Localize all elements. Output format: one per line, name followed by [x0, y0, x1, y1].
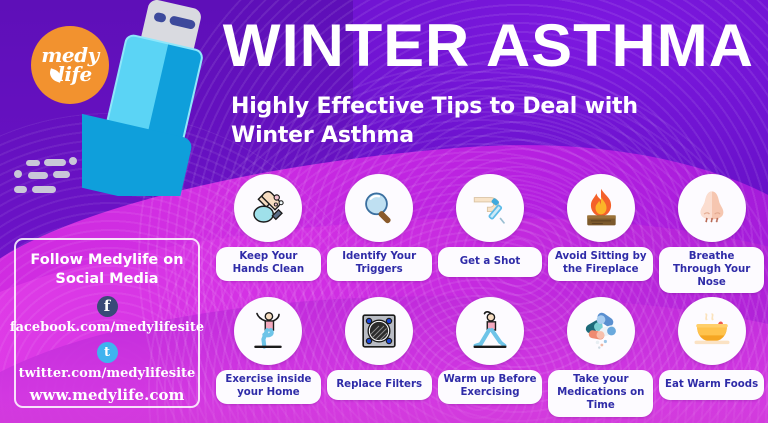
dashes-decoration — [12, 156, 84, 204]
tip-label: Exercise inside your Home — [216, 370, 321, 404]
twitter-glyph: t — [104, 345, 110, 360]
air-filter-icon — [345, 297, 413, 365]
tip-card[interactable]: Keep Your Hands Clean — [216, 174, 321, 293]
tip-card[interactable]: Avoid Sitting by the Fireplace — [548, 174, 653, 293]
fireplace-flame-icon — [567, 174, 635, 242]
yoga-warrior-pose-icon — [456, 297, 524, 365]
asthma-inhaler-illustration — [82, 0, 212, 196]
facebook-glyph: f — [104, 297, 110, 315]
tip-label: Take your Medications on Time — [548, 370, 653, 416]
tip-label: Get a Shot — [438, 247, 543, 277]
page-title: WINTER ASTHMA — [223, 16, 754, 76]
magnifying-glass-icon — [345, 174, 413, 242]
warm-soup-bowl-icon — [678, 297, 746, 365]
winter-asthma-infographic: medy life WINTER ASTHMA Highly Effective… — [0, 0, 768, 423]
facebook-handle[interactable]: facebook.com/medylifesite — [10, 320, 204, 335]
tip-label: Eat Warm Foods — [659, 370, 764, 400]
tip-card[interactable]: Breathe Through Your Nose — [659, 174, 764, 293]
medylife-logo[interactable]: medy life — [31, 26, 109, 104]
facebook-icon[interactable]: f — [97, 296, 118, 317]
tip-card[interactable]: Get a Shot — [438, 174, 543, 293]
tip-label: Breathe Through Your Nose — [659, 247, 764, 293]
yoga-dancer-pose-icon — [234, 297, 302, 365]
twitter-icon[interactable]: t — [97, 342, 118, 363]
washing-hands-icon — [234, 174, 302, 242]
tip-card[interactable]: Eat Warm Foods — [659, 297, 764, 416]
tip-label: Avoid Sitting by the Fireplace — [548, 247, 653, 281]
nose-breathing-icon — [678, 174, 746, 242]
website-url[interactable]: www.medylife.com — [30, 386, 185, 404]
tip-card[interactable]: Exercise inside your Home — [216, 297, 321, 416]
tip-card[interactable]: Identify Your Triggers — [327, 174, 432, 293]
tip-card[interactable]: Warm up Before Exercising — [438, 297, 543, 416]
tip-card[interactable]: Replace Filters — [327, 297, 432, 416]
tips-grid: Keep Your Hands Clean Identify Your Trig… — [216, 174, 764, 412]
tip-card[interactable]: Take your Medications on Time — [548, 297, 653, 416]
tip-label: Identify Your Triggers — [327, 247, 432, 281]
twitter-handle[interactable]: twitter.com/medylifesite — [19, 366, 196, 381]
tip-label: Replace Filters — [327, 370, 432, 400]
tip-label: Keep Your Hands Clean — [216, 247, 321, 281]
page-subtitle: Highly Effective Tips to Deal with Winte… — [231, 92, 661, 150]
tip-label: Warm up Before Exercising — [438, 370, 543, 404]
social-heading: Follow Medylife on Social Media — [16, 251, 198, 289]
social-media-box: Follow Medylife on Social Media f facebo… — [14, 238, 200, 408]
pills-capsules-icon — [567, 297, 635, 365]
syringe-injection-icon — [456, 174, 524, 242]
